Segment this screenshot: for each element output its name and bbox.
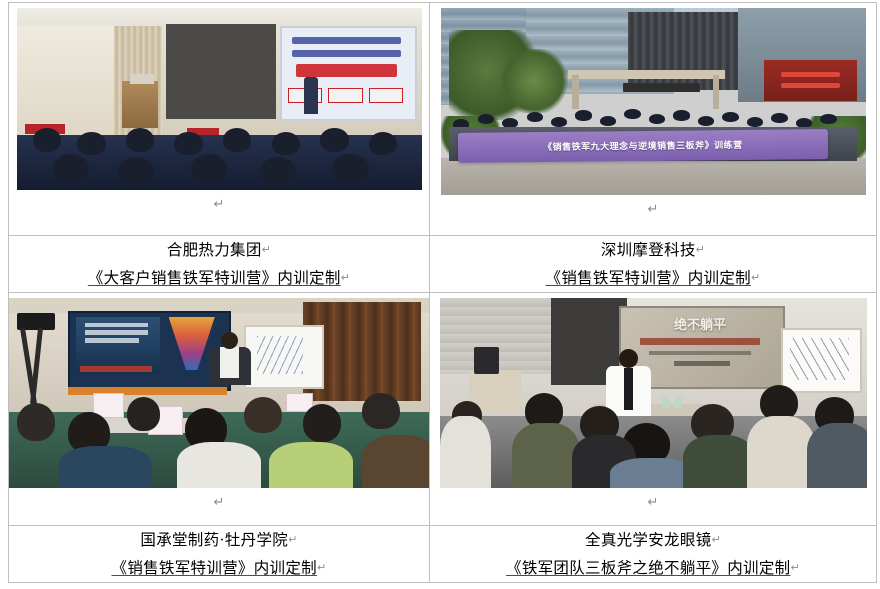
photo-attendee-head <box>362 393 400 429</box>
photo-audience-head <box>320 128 348 152</box>
photo-person-head <box>600 116 616 126</box>
photo-audience-head <box>174 132 202 156</box>
caption-cell-top-right[interactable]: 深圳摩登科技↵ 《销售铁军特训营》内训定制↵ <box>430 236 877 293</box>
photo-person-head <box>673 110 689 120</box>
photo-attendee-head <box>244 397 282 433</box>
photo-trainer-shirt <box>220 347 238 377</box>
photo-attendee-head <box>303 404 341 442</box>
photo-caption-table: ↵ <box>8 2 877 583</box>
seminar-room-photo[interactable] <box>9 298 429 488</box>
paragraph-mark: ↵ <box>214 494 225 512</box>
classroom-lecture-photo[interactable]: 绝不躺平 <box>440 298 867 488</box>
caption-company-text: 合肥热力集团 <box>167 242 262 259</box>
photo-red-entrance <box>764 60 858 101</box>
photo-person-head <box>551 117 567 127</box>
photo-person-head <box>698 116 714 126</box>
paragraph-mark: ↵ <box>262 236 272 263</box>
photo-pergola <box>568 70 725 79</box>
photo-training-banner: 《销售铁军九大理念与逆境销售三板斧》训练营 <box>457 129 827 163</box>
photo-banner-text: 《销售铁军九大理念与逆境销售三板斧》训练营 <box>457 129 827 163</box>
caption-company-text: 全真光学安龙眼镜 <box>585 532 711 549</box>
photo-whiteboard-writing <box>257 336 303 374</box>
caption-company-name: 国承堂制药·牡丹学院↵ <box>9 526 429 554</box>
photo-audience-head <box>77 132 105 156</box>
photo-pavement <box>441 158 866 195</box>
table-row-images-top: ↵ <box>9 3 877 236</box>
image-cell-bottom-left[interactable]: ↵ <box>9 293 430 526</box>
image-cell-top-left[interactable]: ↵ <box>9 3 430 236</box>
photo-water-bottle <box>674 397 682 408</box>
photo-slide-body-text <box>649 351 751 355</box>
photo-screen-headline <box>296 64 397 77</box>
caption-course-text: 《铁军团队三板斧之绝不躺平》内训定制 <box>506 560 790 577</box>
caption-company-name: 合肥热力集团↵ <box>9 236 429 264</box>
paragraph-mark: ↵ <box>696 236 706 263</box>
caption-company-text: 深圳摩登科技 <box>601 242 696 259</box>
caption-company-name: 全真光学安龙眼镜↵ <box>430 526 876 554</box>
photo-person-head <box>820 114 836 124</box>
caption-cell-bottom-right[interactable]: 全真光学安龙眼镜↵ 《铁军团队三板斧之绝不躺平》内训定制↵ <box>430 526 877 583</box>
photo-slide-caption-bar <box>80 366 151 372</box>
photo-audience-head <box>369 132 397 156</box>
photo-audience-head <box>272 132 300 156</box>
photo-speaker-box <box>474 347 500 374</box>
paragraph-mark: ↵ <box>790 554 800 581</box>
photo-slide-title: 绝不躺平 <box>636 315 764 332</box>
photo-person-head <box>527 112 543 122</box>
photo-person-head <box>649 114 665 124</box>
photo-attendee-body <box>362 435 429 488</box>
photo-audience-head <box>126 128 154 152</box>
paragraph-mark: ↵ <box>214 196 225 214</box>
photo-slide-subtitle <box>640 338 760 346</box>
photo-slide-text-line <box>85 338 140 343</box>
photo-water-bottle <box>662 397 670 408</box>
photo-attendee-body <box>59 446 151 488</box>
photo-speaker-tie <box>624 368 633 410</box>
photo-attendee-body <box>440 416 491 488</box>
photo-attendee-head <box>127 397 161 431</box>
photo-slide-text-line <box>85 323 148 328</box>
paragraph-mark: ↵ <box>648 494 659 512</box>
photo-slide-footer-bar <box>68 387 228 395</box>
photo-audience-head <box>191 154 227 183</box>
photo-person-head <box>771 113 787 123</box>
photo-attendee-body <box>807 423 867 488</box>
photo-building-sign-tianan <box>623 83 700 92</box>
image-cell-top-right[interactable]: 《销售铁军九大理念与逆境销售三板斧》训练营 ↵ <box>430 3 877 236</box>
caption-course-text: 《销售铁军特训营》内训定制 <box>546 270 751 287</box>
photo-audience-head <box>332 154 368 183</box>
caption-course-text: 《销售铁军特训营》内训定制 <box>112 560 317 577</box>
caption-cell-top-left[interactable]: 合肥热力集团↵ 《大客户销售铁军特训营》内训定制↵ <box>9 236 430 293</box>
photo-audience-head <box>118 157 154 186</box>
paragraph-mark: ↵ <box>317 554 327 581</box>
photo-slide-title-text: 绝不躺平 <box>674 314 726 333</box>
photo-dark-panel <box>166 24 275 119</box>
photo-attendee-head <box>17 403 55 441</box>
paragraph-mark: ↵ <box>288 526 298 553</box>
paragraph-mark: ↵ <box>341 264 351 291</box>
paragraph-mark: ↵ <box>711 526 721 553</box>
caption-company-name: 深圳摩登科技↵ <box>430 236 876 264</box>
photo-attendee-body <box>683 435 756 488</box>
caption-course-name[interactable]: 《销售铁军特训营》内训定制↵ <box>430 264 876 292</box>
photo-podium <box>122 81 158 128</box>
photo-wall-left <box>17 26 122 139</box>
photo-person-head <box>478 114 494 124</box>
table-row-captions-bottom: 国承堂制药·牡丹学院↵ 《销售铁军特训营》内训定制↵ 全真光学安龙眼镜↵ 《铁军… <box>9 526 877 583</box>
photo-person-head <box>747 117 763 127</box>
image-cell-bottom-right[interactable]: 绝不躺平 <box>430 293 877 526</box>
photo-person-head <box>575 110 591 120</box>
photo-audience-head <box>53 154 89 183</box>
photo-attendee-body <box>177 442 261 488</box>
photo-attendee-body <box>269 442 353 488</box>
photo-screen-box-3 <box>369 88 403 103</box>
photo-screen-box-2 <box>328 88 362 103</box>
photo-slide-text-line <box>85 330 148 335</box>
caption-cell-bottom-left[interactable]: 国承堂制药·牡丹学院↵ 《销售铁军特训营》内训定制↵ <box>9 526 430 583</box>
caption-course-name[interactable]: 《销售铁军特训营》内训定制↵ <box>9 554 429 582</box>
photo-attendee-body <box>512 423 580 488</box>
photo-presenter <box>304 77 318 113</box>
caption-course-name[interactable]: 《大客户销售铁军特训营》内训定制↵ <box>9 264 429 292</box>
photo-flipchart-writing <box>790 338 850 380</box>
paragraph-mark: ↵ <box>751 264 761 291</box>
photo-audience-head <box>260 157 296 186</box>
photo-red-light-strip <box>781 72 841 78</box>
paragraph-mark: ↵ <box>648 201 659 219</box>
table-row-captions-top: 合肥热力集团↵ 《大客户销售铁军特训营》内训定制↵ 深圳摩登科技↵ 《销售铁军特… <box>9 236 877 293</box>
table-row-images-bottom: ↵ 绝不躺平 <box>9 293 877 526</box>
photo-screen-text-line-1 <box>292 37 401 44</box>
outdoor-group-photo[interactable]: 《销售铁军九大理念与逆境销售三板斧》训练营 <box>441 8 866 195</box>
photo-attendee-body <box>747 416 815 488</box>
photo-person-head <box>722 112 738 122</box>
caption-company-text: 国承堂制药·牡丹学院 <box>140 532 288 549</box>
photo-audience-head <box>33 128 61 152</box>
photo-person-head <box>624 109 640 119</box>
caption-course-text: 《大客户销售铁军特训营》内训定制 <box>88 270 341 287</box>
photo-screen-text-line-2 <box>292 50 401 57</box>
photo-audience-head <box>223 128 251 152</box>
photo-red-light-strip <box>781 83 841 89</box>
conference-hall-photo[interactable] <box>17 8 422 190</box>
photo-slide-presenter-line <box>674 361 730 367</box>
caption-course-name[interactable]: 《铁军团队三板斧之绝不躺平》内训定制↵ <box>430 554 876 582</box>
photo-laptop <box>130 74 154 85</box>
